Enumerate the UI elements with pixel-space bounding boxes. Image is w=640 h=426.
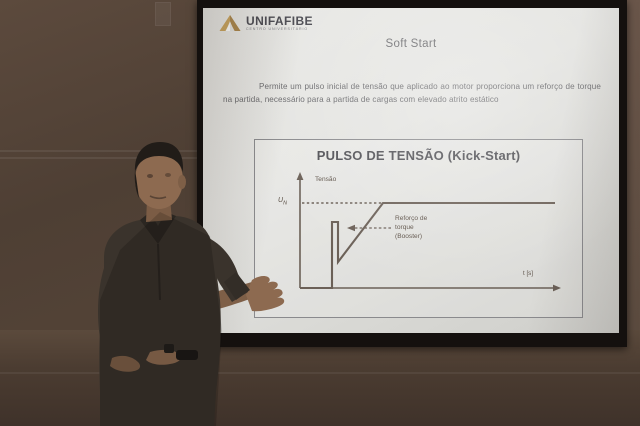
- wall-seam-upper: [0, 150, 206, 152]
- chart-nominal-voltage-label: UN: [278, 196, 287, 209]
- booster-line-3: (Booster): [395, 232, 427, 241]
- screenshot-root: UNIFAFIBE CENTRO UNIVERSITÁRIO Soft Star…: [0, 0, 640, 426]
- logo-name: UNIFAFIBE: [246, 15, 313, 27]
- chart-panel: PULSO DE TENSÃO (Kick-Start) Tensão UN: [254, 139, 583, 318]
- room-wall-bottom-seam: [0, 372, 640, 374]
- unifafibe-logo: UNIFAFIBE CENTRO UNIVERSITÁRIO: [219, 14, 313, 33]
- slide-body-paragraph: Permite um pulso inicial de tensão que a…: [223, 80, 601, 106]
- logo-subtitle: CENTRO UNIVERSITÁRIO: [246, 28, 313, 32]
- wall-panel-mid: [148, 158, 166, 194]
- voltage-pulse-chart: [255, 170, 582, 317]
- chart-title: PULSO DE TENSÃO (Kick-Start): [255, 148, 582, 163]
- booster-line-1: Reforço de: [395, 214, 427, 223]
- slide: UNIFAFIBE CENTRO UNIVERSITÁRIO Soft Star…: [203, 8, 619, 333]
- unifafibe-pyramid-logo-icon: [219, 14, 241, 33]
- slide-title: Soft Start: [203, 38, 619, 50]
- booster-line-2: torque: [395, 223, 427, 232]
- chart-booster-annotation: Reforço de torque (Booster): [395, 214, 427, 242]
- wall-seam-lower: [0, 157, 206, 159]
- chart-y-axis-label: Tensão: [315, 175, 336, 184]
- wall-panel-top: [155, 2, 171, 26]
- chart-x-axis-label: t [s]: [523, 269, 533, 278]
